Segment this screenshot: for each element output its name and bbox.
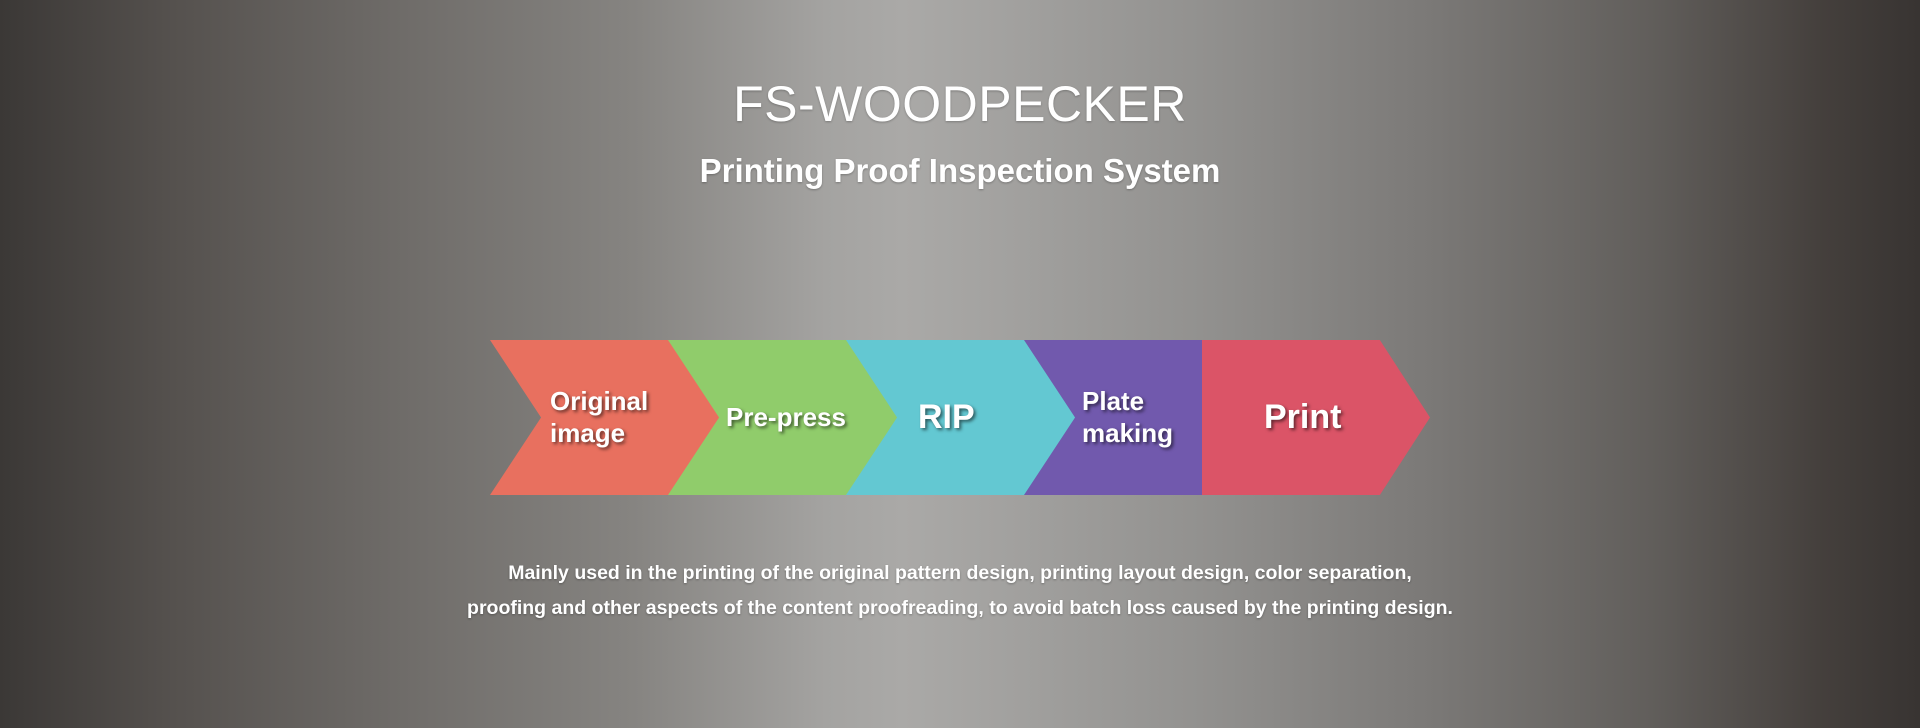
flow-step-label: Original image	[490, 386, 648, 449]
flow-step-label: Print	[1202, 397, 1341, 438]
header-block: FS-WOODPECKER Printing Proof Inspection …	[0, 78, 1920, 189]
page-title: FS-WOODPECKER	[0, 78, 1920, 131]
page-subtitle: Printing Proof Inspection System	[0, 153, 1920, 189]
description-line-2: proofing and other aspects of the conten…	[0, 591, 1920, 626]
slide-canvas: FS-WOODPECKER Printing Proof Inspection …	[0, 0, 1920, 728]
process-flow-inner: Original image Pre-press RIP Plate makin…	[490, 340, 1430, 495]
description-block: Mainly used in the printing of the origi…	[0, 556, 1920, 626]
flow-step-print[interactable]: Print	[1202, 340, 1430, 495]
description-line-1: Mainly used in the printing of the origi…	[0, 556, 1920, 591]
process-flow: Original image Pre-press RIP Plate makin…	[0, 340, 1920, 505]
